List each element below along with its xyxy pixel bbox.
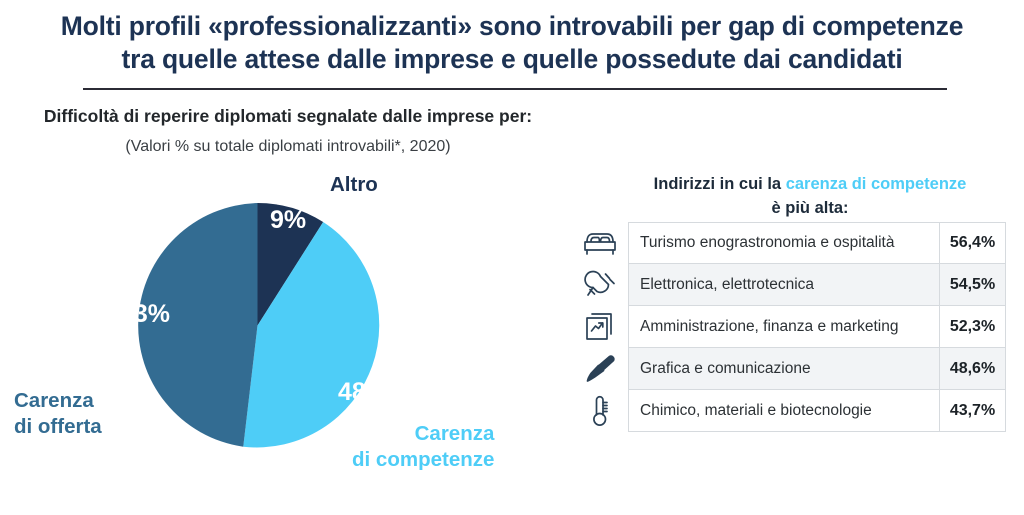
table-row[interactable]: Elettronica, elettrotecnica 54,5% (572, 264, 1006, 306)
table-row-body: Turismo enograstronomia e ospitalità 56,… (628, 222, 1006, 264)
table-row[interactable]: Chimico, materiali e biotecnologie 43,7% (572, 390, 1006, 432)
pie-value-altro: 9% (270, 206, 306, 235)
table-cell-value: 48,6% (939, 348, 1005, 390)
chart-subtitle-block: Difficoltà di reperire diplomati segnala… (0, 104, 576, 159)
table-cell-name: Elettronica, elettrotecnica (629, 276, 939, 294)
pie-chart (135, 203, 380, 448)
page-title: Molti profili «professionalizzanti» sono… (0, 10, 1024, 76)
table-cell-value: 52,3% (939, 306, 1005, 348)
table-row[interactable]: Grafica e comunicazione 48,6% (572, 348, 1006, 390)
infographic-page: Molti profili «professionalizzanti» sono… (0, 0, 1024, 515)
table-cell-name: Chimico, materiali e biotecnologie (629, 402, 939, 420)
pie-label-competenze-line-2: di competenze (352, 447, 494, 473)
table-cell-value: 54,5% (939, 264, 1005, 306)
chart-pages-icon (572, 306, 628, 348)
table-header: Indirizzi in cui la carenza di competenz… (600, 172, 1020, 220)
table-row-body: Elettronica, elettrotecnica 54,5% (628, 264, 1006, 306)
pie-label-carenza-competenze: Carenza di competenze (352, 421, 494, 473)
table-header-highlight: carenza di competenze (786, 175, 967, 193)
paintbrush-icon (572, 348, 628, 390)
table-cell-value: 43,7% (939, 390, 1005, 432)
table-header-prefix: Indirizzi in cui la (654, 175, 786, 193)
table-row-body: Amministrazione, finanza e marketing 52,… (628, 306, 1006, 348)
pie-label-offerta-line-1: Carenza (14, 388, 102, 414)
pie-label-altro: Altro (330, 172, 378, 198)
table-row-body: Grafica e comunicazione 48,6% (628, 348, 1006, 390)
table-cell-name: Grafica e comunicazione (629, 360, 939, 378)
plug-icon (572, 264, 628, 306)
title-line-2: tra quelle attese dalle imprese e quelle… (0, 43, 1024, 76)
bed-icon (572, 222, 628, 264)
title-divider (83, 88, 947, 90)
pie-value-competenze: 48% (338, 378, 388, 407)
table-row[interactable]: Amministrazione, finanza e marketing 52,… (572, 306, 1006, 348)
thermometer-icon (572, 390, 628, 432)
chart-subtitle: Difficoltà di reperire diplomati segnala… (0, 104, 576, 128)
chart-units-note: (Valori % su totale diplomati introvabil… (0, 135, 576, 159)
skills-gap-table: Turismo enograstronomia e ospitalità 56,… (572, 222, 1006, 432)
table-header-suffix: è più alta: (771, 199, 848, 217)
table-cell-value: 56,4% (939, 222, 1005, 264)
pie-value-offerta: 43% (120, 300, 170, 329)
table-cell-name: Turismo enograstronomia e ospitalità (629, 234, 939, 252)
pie-label-carenza-offerta: Carenza di offerta (14, 388, 102, 440)
table-row-body: Chimico, materiali e biotecnologie 43,7% (628, 390, 1006, 432)
table-row[interactable]: Turismo enograstronomia e ospitalità 56,… (572, 222, 1006, 264)
pie-label-offerta-line-2: di offerta (14, 414, 102, 440)
pie-label-competenze-line-1: Carenza (352, 421, 494, 447)
table-cell-name: Amministrazione, finanza e marketing (629, 318, 939, 336)
title-line-1: Molti profili «professionalizzanti» sono… (0, 10, 1024, 43)
